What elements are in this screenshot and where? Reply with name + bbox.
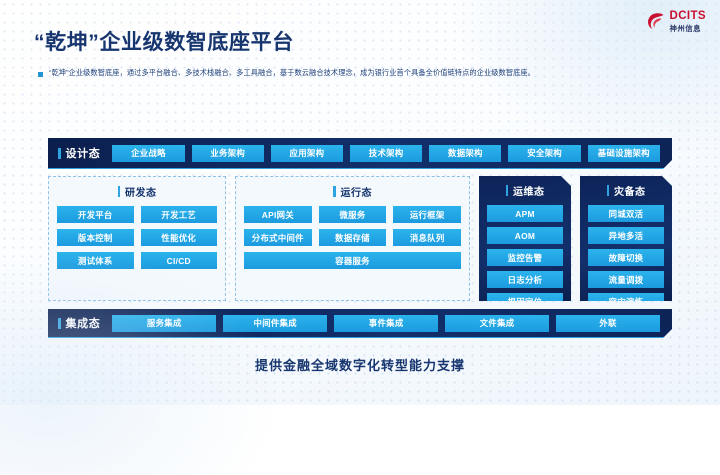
summary-bullet: “乾坤”企业级数智底座，通过多平台融合、多技术栈融合、多工具融合，基于数云融合技… (38, 68, 535, 78)
runtime-panel: 运行态 API网关 微服务 运行框架 分布式中间件 数据存储 消息队列 容器服务 (235, 176, 470, 301)
tile[interactable]: 应用架构 (271, 145, 343, 162)
rd-panel-tiles: 开发平台 开发工艺 版本控制 性能优化 测试体系 CI/CD (57, 206, 217, 269)
ops-panel: 运维态 APM AOM 监控告警 日志分析 根因定位 (479, 176, 571, 301)
footer-tagline: 提供金融全域数字化转型能力支撑 (0, 355, 720, 374)
logo-cn: 神州信息 (670, 25, 707, 32)
integration-band: 集成态 服务集成 中间件集成 事件集成 文件集成 外联 (48, 309, 672, 338)
tile[interactable]: 数据存储 (319, 229, 387, 246)
tile[interactable]: 运行框架 (393, 206, 461, 223)
tile[interactable]: 业务架构 (192, 145, 264, 162)
ops-panel-title: 运维态 (513, 183, 545, 198)
accent-tick-icon (58, 318, 61, 329)
logo-en: DCITS (670, 11, 707, 23)
ops-panel-tiles: APM AOM 监控告警 日志分析 根因定位 (487, 205, 563, 310)
architecture-diagram: 设计态 企业战略 业务架构 应用架构 技术架构 数据架构 安全架构 基础设施架构… (48, 138, 672, 338)
tile[interactable]: 容灾演练 (588, 293, 664, 310)
tile[interactable]: 数据架构 (429, 145, 501, 162)
tile[interactable]: 异地多活 (588, 227, 664, 244)
tile[interactable]: CI/CD (141, 252, 218, 269)
dr-panel-title: 灾备态 (614, 183, 646, 198)
tile[interactable]: 企业战略 (112, 145, 184, 162)
accent-tick-icon (118, 186, 121, 197)
tile-row: 容器服务 (244, 252, 461, 269)
slide-canvas: DCITS 神州信息 “乾坤”企业级数智底座平台 “乾坤”企业级数智底座，通过多… (0, 0, 720, 405)
tile[interactable]: 性能优化 (141, 229, 218, 246)
tile[interactable]: 测试体系 (57, 252, 134, 269)
dr-panel-tiles: 同城双活 异地多活 故障切换 流量调拨 容灾演练 (588, 205, 664, 310)
runtime-panel-tiles: API网关 微服务 运行框架 分布式中间件 数据存储 消息队列 容器服务 (244, 206, 461, 269)
tile[interactable]: 消息队列 (393, 229, 461, 246)
tile[interactable]: 版本控制 (57, 229, 134, 246)
accent-tick-icon (506, 185, 509, 196)
tile[interactable]: 分布式中间件 (244, 229, 312, 246)
tile-row: 测试体系 CI/CD (57, 252, 217, 269)
tile[interactable]: 外联 (556, 315, 660, 332)
tile[interactable]: 日志分析 (487, 271, 563, 288)
tile[interactable]: 监控告警 (487, 249, 563, 266)
accent-tick-icon (333, 186, 336, 197)
tile[interactable]: 基础设施架构 (588, 145, 660, 162)
tile[interactable]: 技术架构 (350, 145, 422, 162)
accent-tick-icon (607, 185, 610, 196)
brand-logo: DCITS 神州信息 (645, 11, 707, 32)
integration-band-label: 集成态 (58, 315, 100, 331)
tile[interactable]: 流量调拨 (588, 271, 664, 288)
integration-band-title: 集成态 (66, 315, 101, 331)
tile-row: 开发平台 开发工艺 (57, 206, 217, 223)
tile[interactable]: APM (487, 205, 563, 222)
tile[interactable]: 同城双活 (588, 205, 664, 222)
design-band-tiles: 企业战略 业务架构 应用架构 技术架构 数据架构 安全架构 基础设施架构 (112, 145, 672, 162)
tile[interactable]: 事件集成 (334, 315, 438, 332)
swirl-logo-icon (645, 11, 666, 32)
design-band: 设计态 企业战略 业务架构 应用架构 技术架构 数据架构 安全架构 基础设施架构 (48, 138, 672, 169)
tile[interactable]: 服务集成 (112, 315, 216, 332)
rd-panel: 研发态 开发平台 开发工艺 版本控制 性能优化 测试体系 CI/CD (48, 176, 226, 301)
tile[interactable]: 文件集成 (445, 315, 549, 332)
logo-wordmark: DCITS 神州信息 (670, 11, 707, 32)
tile-row: 版本控制 性能优化 (57, 229, 217, 246)
tile[interactable]: 容器服务 (244, 252, 461, 269)
summary-text: “乾坤”企业级数智底座，通过多平台融合、多技术栈融合、多工具融合，基于数云融合技… (49, 68, 535, 78)
tile-row: 分布式中间件 数据存储 消息队列 (244, 229, 461, 246)
tile[interactable]: 微服务 (319, 206, 387, 223)
accent-tick-icon (58, 148, 61, 159)
disaster-recovery-panel: 灾备态 同城双活 异地多活 故障切换 流量调拨 容灾演练 (580, 176, 672, 301)
tile[interactable]: 根因定位 (487, 293, 563, 310)
rd-panel-title: 研发态 (125, 184, 157, 199)
tile[interactable]: 故障切换 (588, 249, 664, 266)
tile[interactable]: 中间件集成 (223, 315, 327, 332)
rd-panel-header: 研发态 (57, 184, 217, 199)
tile[interactable]: 开发平台 (57, 206, 134, 223)
tile[interactable]: API网关 (244, 206, 312, 223)
design-band-title: 设计态 (66, 145, 101, 161)
ops-panel-header: 运维态 (487, 183, 563, 198)
runtime-panel-header: 运行态 (244, 184, 461, 199)
bullet-square-icon (38, 72, 43, 77)
runtime-panel-title: 运行态 (341, 184, 373, 199)
integration-band-tiles: 服务集成 中间件集成 事件集成 文件集成 外联 (112, 315, 672, 332)
tile[interactable]: AOM (487, 227, 563, 244)
page-title: “乾坤”企业级数智底座平台 (34, 26, 294, 56)
dr-panel-header: 灾备态 (588, 183, 664, 198)
middle-panels: 研发态 开发平台 开发工艺 版本控制 性能优化 测试体系 CI/CD (48, 176, 672, 301)
tile[interactable]: 安全架构 (508, 145, 580, 162)
design-band-label: 设计态 (58, 145, 100, 161)
tile[interactable]: 开发工艺 (141, 206, 218, 223)
tile-row: API网关 微服务 运行框架 (244, 206, 461, 223)
